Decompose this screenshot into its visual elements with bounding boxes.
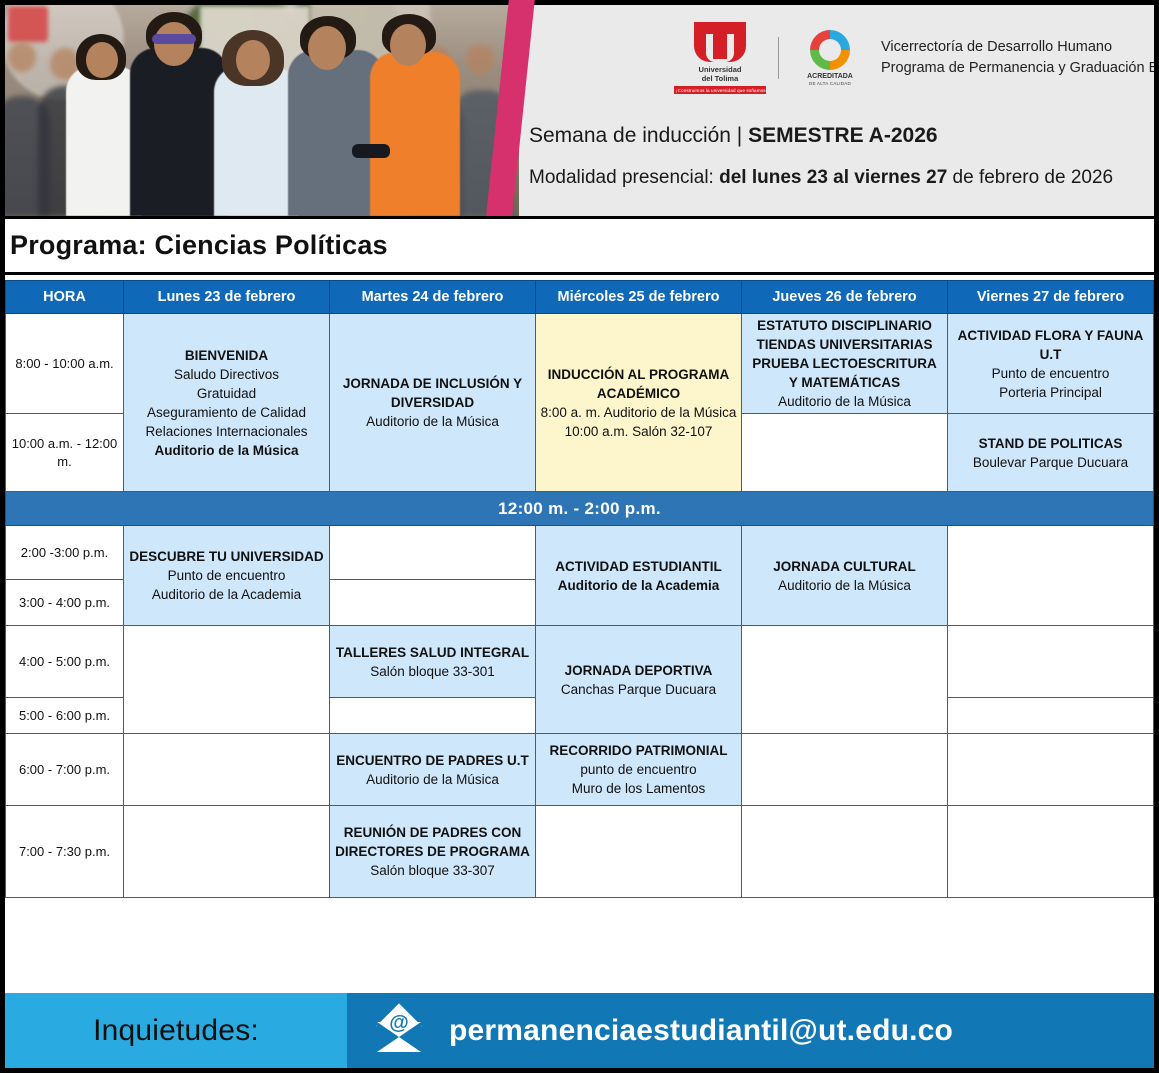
accreditation-sublabel: DE ALTA CALIDAD [791, 81, 869, 86]
poster-header: Universidad del Tolima ¡Construimos la u… [0, 0, 1159, 219]
university-logo-line1: Universidad [699, 65, 742, 74]
modality-month: de febrero de 2026 [947, 167, 1113, 188]
table-row: 6:00 - 7:00 p.m. ENCUENTRO DE PADRES U.T… [6, 734, 1154, 806]
photo-person-head [8, 42, 36, 72]
cell-lunes-afternoon-empty-1 [124, 626, 330, 734]
cell-lunes-afternoon: DESCUBRE TU UNIVERSIDAD Punto de encuent… [124, 526, 330, 626]
photo-person-head [86, 42, 118, 78]
lunch-break-label: 12:00 m. - 2:00 p.m. [6, 492, 1154, 526]
cell-viernes-morning-2: STAND DE POLITICAS Boulevar Parque Ducua… [948, 414, 1154, 492]
hour-cell-1900: 7:00 - 7:30 p.m. [6, 806, 124, 898]
cell-martes-afternoon-empty-1 [330, 526, 536, 580]
lunch-break-row: 12:00 m. - 2:00 p.m. [6, 492, 1154, 526]
activity-line: Aseguramiento de Calidad [127, 403, 326, 422]
photo-sunglasses [152, 34, 196, 44]
activity-title: JORNADA CULTURAL [745, 557, 944, 576]
cell-jueves-afternoon-empty-2 [742, 734, 948, 806]
activity-place: Auditorio de la Música [745, 392, 944, 411]
table-header-row: HORA Lunes 23 de febrero Martes 24 de fe… [6, 281, 1154, 314]
vicerrectoria-block: Vicerrectoría de Desarrollo Humano Progr… [881, 37, 1159, 79]
schedule-table: HORA Lunes 23 de febrero Martes 24 de fe… [5, 280, 1154, 898]
activity-place: Auditorio de la Academia [539, 576, 738, 595]
at-glyph: @ [373, 1012, 425, 1035]
cell-lunes-afternoon-empty-3 [124, 806, 330, 898]
cell-viernes-afternoon-empty-3 [948, 698, 1154, 734]
activity-line: punto de encuentro [539, 760, 738, 779]
column-header-jueves: Jueves 26 de febrero [742, 281, 948, 314]
event-title: Semana de inducción | SEMESTRE A-2026 [529, 124, 938, 148]
table-row: 2:00 -3:00 p.m. DESCUBRE TU UNIVERSIDAD … [6, 526, 1154, 580]
activity-title-line: Y MATEMÁTICAS [745, 373, 944, 392]
cell-martes-afternoon-1: TALLERES SALUD INTEGRAL Salón bloque 33-… [330, 626, 536, 698]
column-header-lunes: Lunes 23 de febrero [124, 281, 330, 314]
cell-jueves-morning-2 [742, 414, 948, 492]
accreditation-seal-icon [810, 30, 850, 70]
activity-line: Relaciones Internacionales [127, 422, 326, 441]
activity-title: JORNADA DEPORTIVA [539, 661, 738, 680]
university-logo-name: Universidad del Tolima [674, 65, 766, 83]
institution-logos: Universidad del Tolima ¡Construimos la u… [674, 22, 1159, 94]
activity-title-line: PRUEBA LECTOESCRITURA [745, 354, 944, 373]
column-header-hora: HORA [6, 281, 124, 314]
cell-jueves-afternoon-empty-1 [742, 626, 948, 734]
cell-viernes-morning-1: ACTIVIDAD FLORA Y FAUNA U.T Punto de enc… [948, 314, 1154, 414]
activity-title: JORNADA DE INCLUSIÓN Y DIVERSIDAD [333, 374, 532, 412]
activity-line: Auditorio de la Música [745, 576, 944, 595]
activity-line: Saludo Directivos [127, 365, 326, 384]
activity-line: Salón bloque 33-307 [333, 861, 532, 880]
cell-miercoles-afternoon-1: ACTIVIDAD ESTUDIANTIL Auditorio de la Ac… [536, 526, 742, 626]
poster-page: Universidad del Tolima ¡Construimos la u… [0, 0, 1159, 1073]
modality-label: Modalidad presencial: [529, 167, 719, 188]
university-logo: Universidad del Tolima ¡Construimos la u… [674, 22, 766, 94]
cell-jueves-morning: ESTATUTO DISCIPLINARIO TIENDAS UNIVERSIT… [742, 314, 948, 414]
activity-title: ENCUENTRO DE PADRES U.T [333, 751, 532, 770]
cell-martes-afternoon-empty-3 [330, 698, 536, 734]
contact-label-panel: Inquietudes: [5, 993, 347, 1068]
activity-line: Salón bloque 33-301 [333, 662, 532, 681]
activity-line: Punto de encuentro [951, 364, 1150, 383]
activity-title: REUNIÓN DE PADRES CON DIRECTORES DE PROG… [333, 823, 532, 861]
hour-cell-1400: 2:00 -3:00 p.m. [6, 526, 124, 580]
page-title: Programa: Ciencias Políticas [10, 230, 388, 261]
cell-lunes-afternoon-empty-2 [124, 734, 330, 806]
accreditation-logo: ACREDITADA DE ALTA CALIDAD [791, 30, 869, 86]
column-header-viernes: Viernes 27 de febrero [948, 281, 1154, 314]
hour-cell-0800: 8:00 - 10:00 a.m. [6, 314, 124, 414]
activity-title-line: TIENDAS UNIVERSITARIAS [745, 335, 944, 354]
activity-line: Auditorio de la Música [333, 770, 532, 789]
activity-title: BIENVENIDA [127, 346, 326, 365]
activity-title: INDUCCIÓN AL PROGRAMA ACADÉMICO [539, 365, 738, 403]
university-tagline: ¡Construimos la universidad que soñamos! [674, 86, 766, 94]
photo-person-head [154, 22, 194, 66]
activity-line: 10:00 a.m. Salón 32-107 [539, 422, 738, 441]
cell-jueves-afternoon: JORNADA CULTURAL Auditorio de la Música [742, 526, 948, 626]
table-row: 7:00 - 7:30 p.m. REUNIÓN DE PADRES CON D… [6, 806, 1154, 898]
activity-line: 8:00 a. m. Auditorio de la Música [539, 403, 738, 422]
contact-footer: Inquietudes: @ permanenciaestudiantil@ut… [5, 993, 1154, 1068]
photo-person [214, 66, 298, 216]
photo-person-head [236, 40, 270, 80]
cell-miercoles-afternoon-empty-1 [536, 806, 742, 898]
column-header-martes: Martes 24 de febrero [330, 281, 536, 314]
activity-line: Gratuidad [127, 384, 326, 403]
ut-monogram-icon [694, 22, 746, 62]
activity-title: ACTIVIDAD ESTUDIANTIL [539, 557, 738, 576]
cell-viernes-afternoon-empty-4 [948, 734, 1154, 806]
activity-title: DESCUBRE TU UNIVERSIDAD [127, 547, 326, 566]
activity-title: TALLERES SALUD INTEGRAL [333, 643, 532, 662]
cell-viernes-afternoon-empty-5 [948, 806, 1154, 898]
photo-person-head [390, 24, 426, 66]
accreditation-label: ACREDITADA [791, 73, 869, 81]
cell-miercoles-afternoon-2: JORNADA DEPORTIVA Canchas Parque Ducuara [536, 626, 742, 734]
cell-jueves-afternoon-empty-3 [742, 806, 948, 898]
hour-cell-1600: 4:00 - 5:00 p.m. [6, 626, 124, 698]
cell-martes-afternoon-3: REUNIÓN DE PADRES CON DIRECTORES DE PROG… [330, 806, 536, 898]
activity-title: RECORRIDO PATRIMONIAL [539, 741, 738, 760]
contact-email[interactable]: permanenciaestudiantil@ut.edu.co [449, 1014, 953, 1048]
hour-cell-1800: 6:00 - 7:00 p.m. [6, 734, 124, 806]
hour-cell-1000: 10:00 a.m. - 12:00 m. [6, 414, 124, 492]
cell-martes-morning: JORNADA DE INCLUSIÓN Y DIVERSIDAD Audito… [330, 314, 536, 492]
cell-martes-afternoon-empty-2 [330, 580, 536, 626]
program-title-bar: Programa: Ciencias Políticas [0, 219, 1159, 275]
activity-line: Muro de los Lamentos [539, 779, 738, 798]
photo-backpack-strap [352, 144, 390, 158]
cell-miercoles-morning: INDUCCIÓN AL PROGRAMA ACADÉMICO 8:00 a. … [536, 314, 742, 492]
activity-place: Auditorio de la Música [127, 441, 326, 460]
vicerrectoria-line1: Vicerrectoría de Desarrollo Humano [881, 37, 1159, 58]
cell-lunes-morning: BIENVENIDA Saludo Directivos Gratuidad A… [124, 314, 330, 492]
cell-viernes-afternoon-empty-2 [948, 626, 1154, 698]
contact-label: Inquietudes: [93, 1014, 259, 1048]
cell-miercoles-afternoon-3: RECORRIDO PATRIMONIAL punto de encuentro… [536, 734, 742, 806]
activity-line: Auditorio de la Academia [127, 585, 326, 604]
students-photo [0, 0, 519, 216]
modality-dates: del lunes 23 al viernes 27 [719, 167, 947, 188]
contact-email-panel[interactable]: @ permanenciaestudiantil@ut.edu.co [347, 993, 1154, 1068]
hour-cell-1700: 5:00 - 6:00 p.m. [6, 698, 124, 734]
photo-person [370, 52, 460, 216]
email-icon: @ [373, 1010, 425, 1052]
header-right-panel: Universidad del Tolima ¡Construimos la u… [519, 0, 1159, 216]
table-row: 8:00 - 10:00 a.m. BIENVENIDA Saludo Dire… [6, 314, 1154, 414]
photo-person-head [308, 26, 346, 70]
cell-martes-afternoon-2: ENCUENTRO DE PADRES U.T Auditorio de la … [330, 734, 536, 806]
photo-person-head [466, 44, 494, 74]
event-modality: Modalidad presencial: del lunes 23 al vi… [529, 167, 1113, 189]
table-row: 4:00 - 5:00 p.m. TALLERES SALUD INTEGRAL… [6, 626, 1154, 698]
photo-sign [8, 6, 48, 42]
hour-cell-1500: 3:00 - 4:00 p.m. [6, 580, 124, 626]
column-header-miercoles: Miércoles 25 de febrero [536, 281, 742, 314]
cell-viernes-afternoon-empty-1 [948, 526, 1154, 626]
event-title-plain: Semana de inducción | [529, 124, 748, 147]
university-logo-line2: del Tolima [702, 74, 739, 83]
activity-line: Punto de encuentro [127, 566, 326, 585]
activity-place: Auditorio de la Música [333, 412, 532, 431]
activity-line: Canchas Parque Ducuara [539, 680, 738, 699]
activity-title: STAND DE POLITICAS [951, 434, 1150, 453]
logo-divider [778, 37, 779, 79]
activity-title: ACTIVIDAD FLORA Y FAUNA U.T [951, 326, 1150, 364]
event-title-semester: SEMESTRE A-2026 [748, 124, 937, 147]
vicerrectoria-line2: Programa de Permanencia y Graduación Est… [881, 58, 1159, 79]
activity-line: Porteria Principal [951, 383, 1150, 402]
activity-line: Boulevar Parque Ducuara [951, 453, 1150, 472]
activity-title-line: ESTATUTO DISCIPLINARIO [745, 316, 944, 335]
